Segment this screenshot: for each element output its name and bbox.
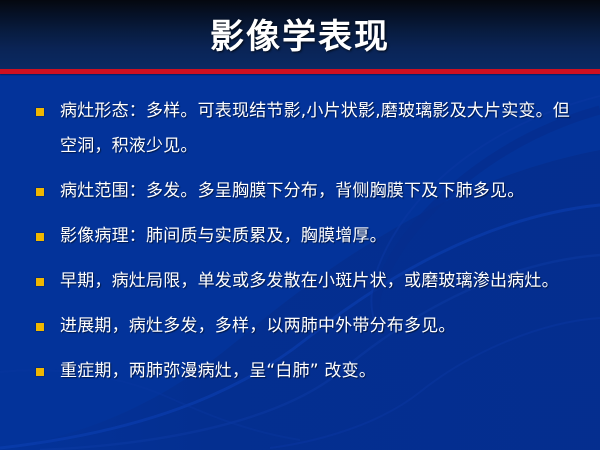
square-bullet-icon <box>36 278 44 286</box>
slide-header: 影像学表现 <box>0 0 600 70</box>
list-item: 病灶形态：多样。可表现结节影,小片状影,磨玻璃影及大片实变。但空洞，积液少见。 <box>34 94 578 164</box>
bullet-text: 进展期，病灶多发，多样，以两肺中外带分布多见。 <box>60 309 578 344</box>
list-item: 重症期，两肺弥漫病灶，呈“白肺” 改变。 <box>34 354 578 389</box>
presentation-slide: 影像学表现 病灶形态：多样。可表现结节影,小片状影,磨玻璃影及大片实变。但空洞，… <box>0 0 600 450</box>
slide-body: 病灶形态：多样。可表现结节影,小片状影,磨玻璃影及大片实变。但空洞，积液少见。 … <box>0 74 600 450</box>
list-item: 病灶范围：多发。多呈胸膜下分布，背侧胸膜下及下肺多见。 <box>34 174 578 209</box>
list-item: 进展期，病灶多发，多样，以两肺中外带分布多见。 <box>34 309 578 344</box>
list-item: 影像病理：肺间质与实质累及，胸膜增厚。 <box>34 219 578 254</box>
square-bullet-icon <box>36 188 44 196</box>
bullet-text: 影像病理：肺间质与实质累及，胸膜增厚。 <box>60 219 578 254</box>
page-title: 影像学表现 <box>0 0 600 70</box>
bullet-list: 病灶形态：多样。可表现结节影,小片状影,磨玻璃影及大片实变。但空洞，积液少见。 … <box>34 94 578 389</box>
list-item: 早期，病灶局限，单发或多发散在小斑片状，或磨玻璃渗出病灶。 <box>34 264 578 299</box>
bullet-text: 早期，病灶局限，单发或多发散在小斑片状，或磨玻璃渗出病灶。 <box>60 264 578 299</box>
square-bullet-icon <box>36 233 44 241</box>
square-bullet-icon <box>36 368 44 376</box>
square-bullet-icon <box>36 108 44 116</box>
bullet-text: 重症期，两肺弥漫病灶，呈“白肺” 改变。 <box>60 354 578 389</box>
bullet-text: 病灶形态：多样。可表现结节影,小片状影,磨玻璃影及大片实变。但空洞，积液少见。 <box>60 94 578 164</box>
square-bullet-icon <box>36 323 44 331</box>
bullet-text: 病灶范围：多发。多呈胸膜下分布，背侧胸膜下及下肺多见。 <box>60 174 578 209</box>
